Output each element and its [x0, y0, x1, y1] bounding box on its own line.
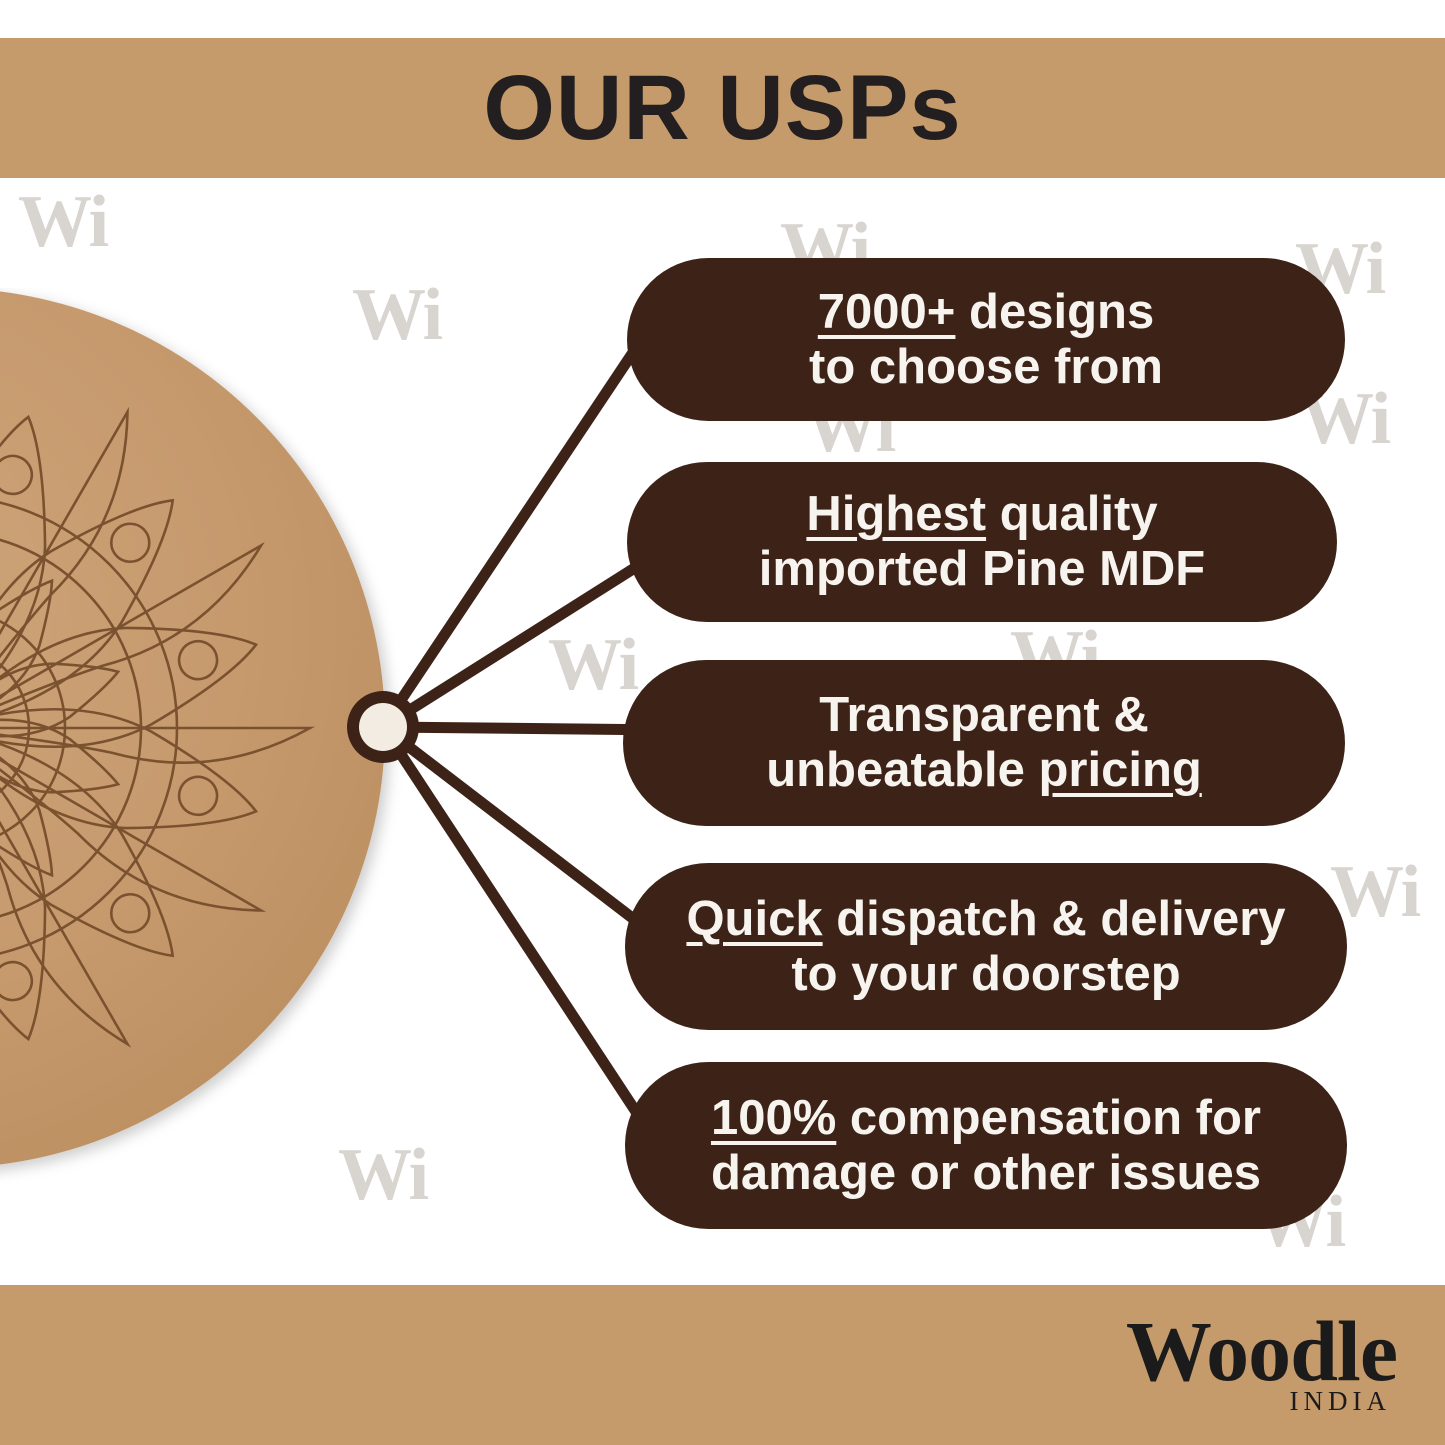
usp-line-2: damage or other issues [711, 1146, 1261, 1201]
page-title: OUR USPs [0, 38, 1445, 178]
usp-text: compensation for [836, 1091, 1261, 1145]
usp-line-2: imported Pine MDF [759, 542, 1205, 597]
brand-logo: Woodle INDIA [1126, 1308, 1397, 1415]
usp-line-2: to your doorstep [791, 947, 1180, 1002]
usp-highlight: Quick [686, 892, 822, 946]
infographic-canvas: Wi Wi Wi Wi Wi Wi Wi Wi Wi Wi Wi [0, 0, 1445, 1445]
usp-text: designs [955, 285, 1154, 339]
usp-pill-pricing[interactable]: Transparent & unbeatable pricing [623, 660, 1345, 826]
usp-text: unbeatable [766, 743, 1038, 797]
usp-line-2: unbeatable pricing [766, 743, 1202, 798]
usp-highlight: pricing [1038, 743, 1201, 797]
usp-pill-quality[interactable]: Highest quality imported Pine MDF [627, 462, 1337, 622]
brand-name: Woodle [1126, 1308, 1397, 1394]
usp-line-2: to choose from [809, 340, 1163, 395]
usp-pill-designs[interactable]: 7000+ designs to choose from [627, 258, 1345, 421]
usp-line-1: Highest quality [806, 487, 1157, 542]
usp-line-1: Transparent & [819, 688, 1148, 743]
usp-text: dispatch & delivery [823, 892, 1286, 946]
usp-line-1: 100% compensation for [711, 1091, 1261, 1146]
usp-highlight: 7000+ [818, 285, 956, 339]
watermark-wi: Wi [548, 628, 637, 702]
watermark-wi: Wi [18, 185, 107, 259]
watermark-wi: Wi [1330, 855, 1419, 929]
usp-line-1: Quick dispatch & delivery [686, 892, 1285, 947]
usp-line-1: 7000+ designs [818, 285, 1154, 340]
usp-pill-compensation[interactable]: 100% compensation for damage or other is… [625, 1062, 1347, 1229]
product-image-mandala-base [0, 288, 435, 1188]
usp-highlight: 100% [711, 1091, 836, 1145]
usp-text: quality [986, 487, 1158, 541]
usp-highlight: Highest [806, 487, 986, 541]
usp-pill-dispatch[interactable]: Quick dispatch & delivery to your doorst… [625, 863, 1347, 1030]
